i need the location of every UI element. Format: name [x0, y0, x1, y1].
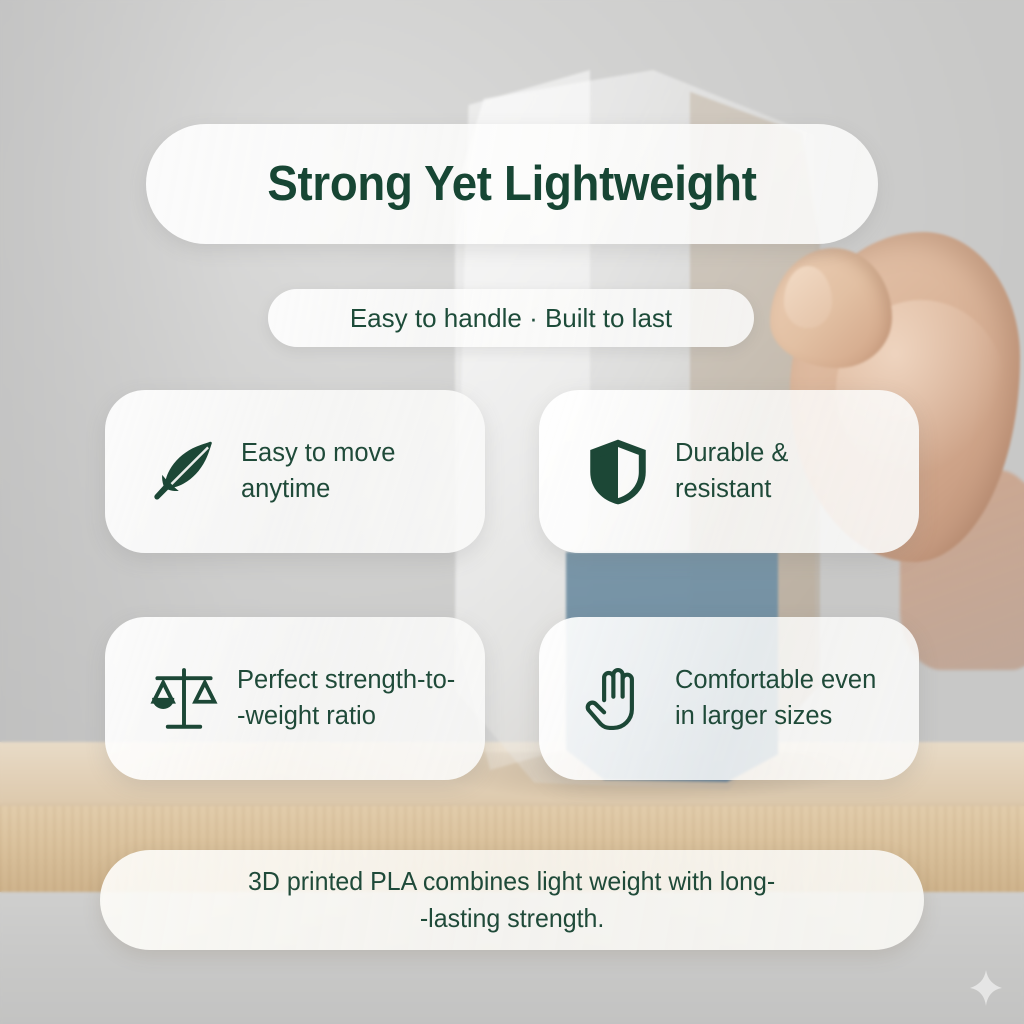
shield-icon [579, 433, 657, 511]
feature-card-label: Perfect strength-to- -weight ratio [237, 663, 455, 733]
feature-label-line1: Easy to move [241, 439, 395, 467]
footer-pill: 3D printed PLA combines light weight wit… [100, 850, 924, 950]
overlay-content: Strong Yet Lightweight Easy to handle · … [0, 0, 1024, 1024]
feature-card-strength-to-weight[interactable]: Perfect strength-to- -weight ratio [105, 617, 485, 780]
feature-card-label: Easy to move anytime [241, 436, 395, 506]
feature-label-line1: Perfect strength-to- [237, 666, 455, 694]
feature-card-durable[interactable]: Durable & resistant [539, 390, 919, 553]
page-subtitle: Easy to handle · Built to last [350, 303, 672, 334]
feature-card-label: Durable & resistant [675, 436, 788, 506]
balance-scale-icon [145, 660, 223, 738]
feature-card-comfortable[interactable]: Comfortable even in larger sizes [539, 617, 919, 780]
sparkle-icon [966, 968, 1006, 1008]
subtitle-pill: Easy to handle · Built to last [268, 289, 754, 347]
product-feature-infographic: Strong Yet Lightweight Easy to handle · … [0, 0, 1024, 1024]
hand-icon [579, 660, 657, 738]
feature-label-line2: anytime [241, 472, 395, 507]
feature-label-line2: -weight ratio [237, 699, 455, 734]
footer-text-line1: 3D printed PLA combines light weight wit… [248, 863, 775, 900]
feature-label-line2: resistant [675, 472, 788, 507]
feature-label-line1: Comfortable even [675, 666, 876, 694]
feather-icon [145, 433, 223, 511]
feature-card-easy-to-move[interactable]: Easy to move anytime [105, 390, 485, 553]
feature-card-label: Comfortable even in larger sizes [675, 663, 876, 733]
footer-text-line2: -lasting strength. [420, 900, 605, 937]
feature-label-line2: in larger sizes [675, 699, 876, 734]
title-pill: Strong Yet Lightweight [146, 124, 878, 244]
feature-label-line1: Durable & [675, 439, 788, 467]
page-title: Strong Yet Lightweight [267, 156, 756, 212]
